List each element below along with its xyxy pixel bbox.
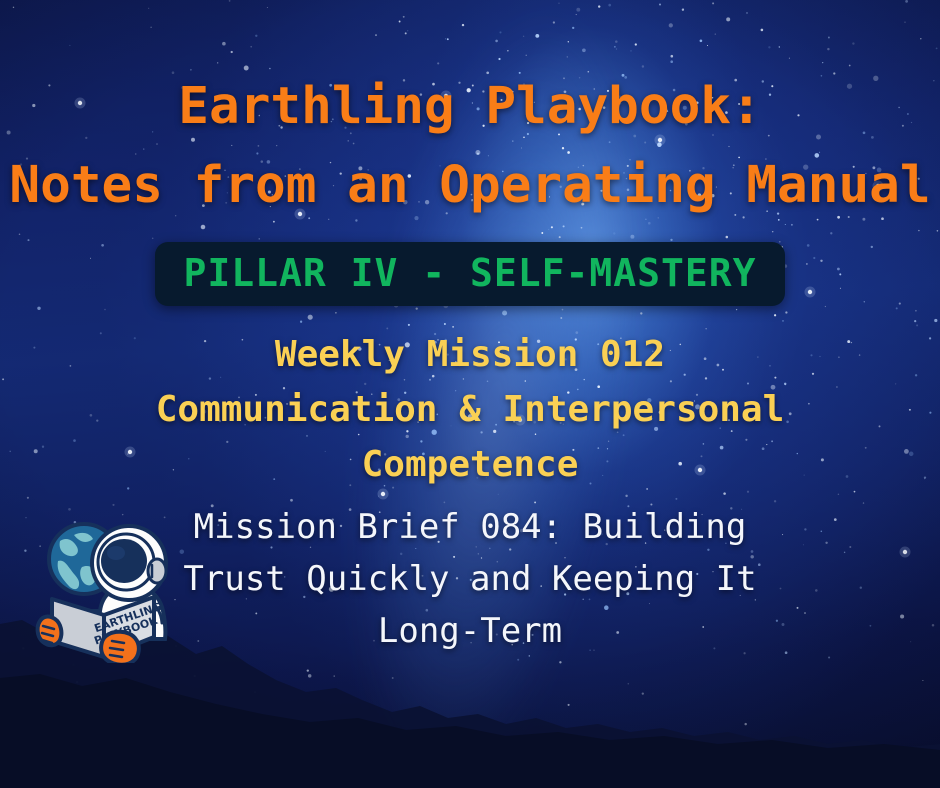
astronaut-glove-left-icon — [38, 617, 62, 646]
astronaut-helmet-icon — [92, 526, 166, 600]
mission-heading: Weekly Mission 012 — [110, 328, 830, 383]
title-line-1: Earthling Playbook: — [0, 80, 940, 133]
mission-topic-line-1: Communication & Interpersonal — [110, 383, 830, 438]
mission-block: Weekly Mission 012 Communication & Inter… — [110, 328, 830, 492]
brief-line-1: Mission Brief 084: Building — [130, 502, 810, 554]
slide-title: Earthling Playbook: Notes from an Operat… — [0, 80, 940, 212]
title-slide: Earthling Playbook: Notes from an Operat… — [0, 0, 940, 788]
brief-line-3: Long-Term — [130, 606, 810, 658]
slide-content: Earthling Playbook: Notes from an Operat… — [0, 0, 940, 788]
title-line-2: Notes from an Operating Manual — [0, 159, 940, 212]
pillar-badge: PILLAR IV - SELF-MASTERY — [155, 242, 784, 306]
astronaut-reading-book-logo: EARTHLING PLAYBOOK — [30, 505, 186, 663]
mission-topic-line-2: Competence — [110, 438, 830, 493]
astronaut-glove-right-icon — [101, 632, 139, 663]
brief-line-2: Trust Quickly and Keeping It — [130, 554, 810, 606]
mission-brief-block: Mission Brief 084: Building Trust Quickl… — [130, 502, 810, 657]
